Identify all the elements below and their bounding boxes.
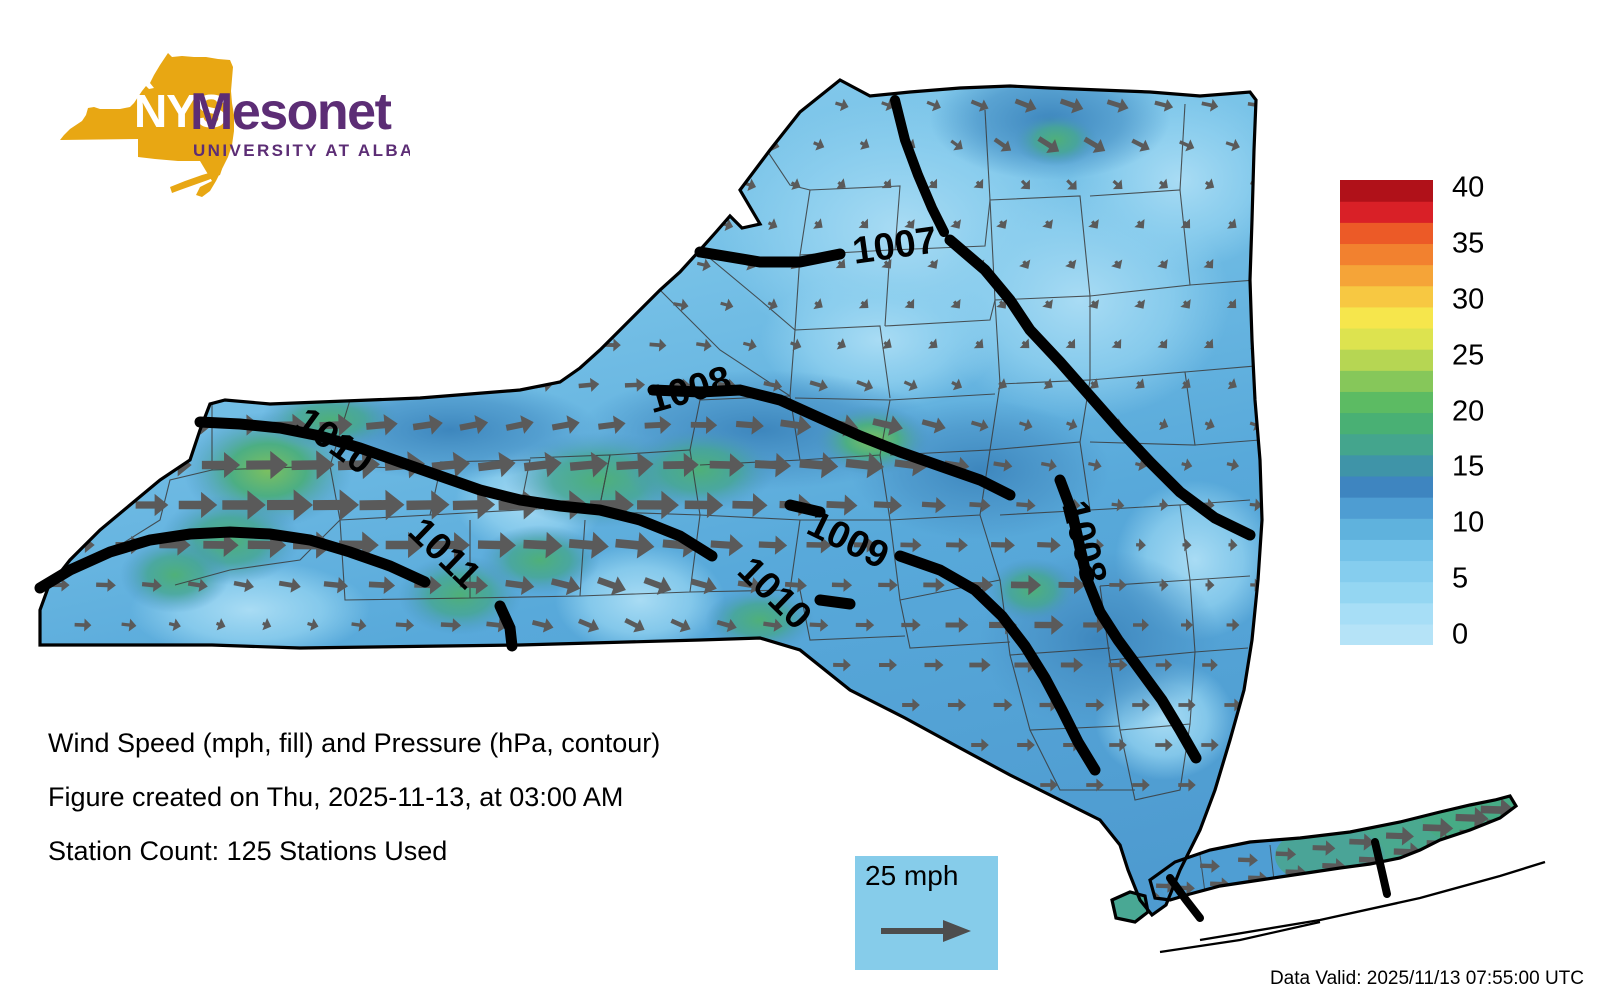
wind-arrow — [718, 698, 736, 711]
wind-arrow — [258, 698, 276, 711]
wind-arrow — [120, 219, 138, 232]
colorbar-band — [1340, 539, 1433, 561]
wind-arrow — [209, 377, 232, 393]
wind-arrow — [51, 259, 69, 272]
wind-arrow — [120, 698, 138, 711]
wind-arrow — [144, 658, 161, 672]
colorbar-gradient — [1340, 180, 1433, 645]
wind-arrow — [255, 377, 279, 393]
wind-arrow — [350, 218, 368, 231]
logo-university-text: UNIVERSITY AT ALBANY — [193, 141, 410, 160]
wind-arrow — [419, 658, 437, 671]
colorbar-band — [1340, 603, 1433, 625]
wind-arrow — [419, 258, 437, 271]
wind-arrow — [602, 657, 623, 673]
wind-arrow — [557, 258, 575, 272]
wind-arrow — [304, 698, 322, 711]
wind-arrow — [442, 138, 460, 151]
reference-vector-arrow-icon — [881, 916, 973, 946]
wind-arrow — [626, 698, 644, 712]
wind-arrow — [258, 218, 276, 231]
colorbar-tick-25: 25 — [1452, 339, 1484, 372]
wind-arrow — [143, 338, 162, 351]
wind-arrow — [488, 698, 506, 711]
colorbar-tick-35: 35 — [1452, 227, 1484, 260]
colorbar-tick-labels: 4035302520151050 — [1452, 180, 1512, 645]
colorbar-tick-10: 10 — [1452, 507, 1484, 540]
colorbar-band — [1340, 370, 1433, 392]
wind-arrow — [534, 138, 552, 151]
reference-vector-box: 25 mph — [855, 856, 998, 970]
wind-arrow — [465, 98, 483, 111]
wind-arrow — [74, 299, 92, 312]
wind-arrow — [442, 218, 460, 231]
wind-arrow — [372, 338, 391, 351]
wind-arrow — [350, 298, 368, 311]
wind-arrow — [695, 177, 712, 193]
wind-arrow — [51, 658, 68, 671]
wind-arrow — [557, 338, 575, 351]
colorbar-tick-0: 0 — [1452, 619, 1468, 652]
wind-arrow — [810, 698, 828, 711]
colorbar-tick-20: 20 — [1452, 395, 1484, 428]
wind-arrow — [393, 376, 417, 393]
wind-arrow — [902, 778, 920, 791]
wind-arrow — [166, 298, 184, 311]
wind-arrow — [488, 218, 506, 231]
wind-arrow — [442, 298, 460, 311]
nys-mesonet-logo: NYS Mesonet UNIVERSITY AT ALBANY — [50, 45, 410, 205]
wind-arrow — [301, 377, 325, 394]
colorbar-band — [1340, 560, 1433, 582]
wind-arrow — [327, 258, 345, 271]
wind-arrow — [879, 738, 897, 751]
colorbar-band — [1340, 391, 1433, 413]
wind-arrow — [166, 218, 184, 231]
wind-arrow — [925, 738, 943, 751]
wind-arrow — [73, 378, 92, 391]
wind-arrow — [626, 138, 644, 152]
wind-arrow — [649, 178, 667, 193]
wind-arrow — [350, 698, 368, 711]
wind-arrow — [649, 98, 667, 112]
wind-arrow — [580, 138, 598, 152]
wind-arrow — [328, 658, 345, 672]
wind-arrow — [695, 98, 713, 113]
wind-arrow — [488, 298, 506, 311]
wind-arrow — [164, 378, 186, 393]
colorbar-band — [1340, 201, 1433, 223]
wind-arrow — [51, 338, 69, 351]
wind-arrow — [280, 338, 300, 351]
wind-arrow — [74, 698, 92, 711]
wind-arrow — [510, 658, 529, 672]
colorbar: 4035302520151050 — [1340, 180, 1500, 650]
wind-arrow — [119, 378, 139, 392]
wind-arrow — [694, 657, 714, 673]
colorbar-band — [1340, 307, 1433, 329]
wind-arrow — [580, 698, 598, 711]
caption-line-title: Wind Speed (mph, fill) and Pressure (hPa… — [48, 716, 868, 770]
wind-arrow — [347, 376, 371, 393]
wind-arrow — [139, 416, 165, 433]
wind-arrow — [580, 298, 598, 312]
wind-arrow — [465, 658, 484, 672]
wind-arrow — [419, 98, 437, 111]
wind-arrow — [143, 259, 161, 272]
wind-arrow — [95, 417, 118, 433]
data-valid-label: Data Valid: 2025/11/13 07:55:00 UTC — [1270, 968, 1584, 990]
wind-arrow — [212, 218, 230, 231]
wind-arrow — [649, 257, 666, 272]
wind-arrow — [672, 138, 690, 153]
colorbar-band — [1340, 582, 1433, 604]
wind-arrow — [396, 298, 414, 311]
wind-arrow — [115, 455, 143, 474]
wind-arrow — [534, 218, 552, 231]
wind-arrow — [212, 298, 230, 311]
colorbar-band — [1340, 413, 1433, 435]
wind-arrow — [419, 178, 437, 191]
wind-arrow — [235, 258, 253, 271]
wind-arrow — [511, 178, 529, 191]
wind-arrow — [236, 658, 252, 672]
wind-arrow — [741, 97, 758, 112]
wind-arrow — [740, 658, 759, 673]
caption-line-created: Figure created on Thu, 2025-11-13, at 03… — [48, 770, 868, 824]
wind-arrow — [97, 338, 115, 351]
wind-arrow — [718, 137, 735, 153]
colorbar-tick-40: 40 — [1452, 172, 1484, 205]
reference-vector-label: 25 mph — [865, 860, 958, 892]
wind-arrow — [464, 338, 483, 352]
wind-arrow — [439, 376, 463, 394]
wind-arrow — [465, 258, 483, 271]
caption-line-stations: Station Count: 125 Stations Used — [48, 824, 868, 878]
colorbar-tick-5: 5 — [1452, 563, 1468, 596]
wind-arrow — [534, 698, 552, 711]
colorbar-band — [1340, 624, 1433, 645]
wind-arrow — [994, 778, 1012, 791]
wind-arrow — [626, 218, 644, 233]
wind-arrow — [1247, 738, 1264, 751]
wind-arrow — [465, 178, 483, 191]
wind-arrow — [511, 338, 530, 352]
colorbar-tick-15: 15 — [1452, 451, 1484, 484]
wind-arrow — [97, 658, 114, 671]
wind-arrow — [282, 658, 298, 672]
wind-arrow — [511, 258, 529, 271]
wind-arrow — [189, 338, 208, 351]
wind-arrow — [281, 258, 299, 271]
wind-arrow — [373, 258, 391, 271]
wind-arrow — [304, 218, 322, 231]
wind-arrow — [764, 698, 782, 711]
wind-arrow — [534, 298, 552, 311]
colorbar-band — [1340, 518, 1433, 540]
wind-arrow — [557, 98, 575, 111]
wind-arrow — [97, 259, 115, 272]
wind-arrow — [234, 338, 253, 351]
colorbar-band — [1340, 497, 1433, 519]
wind-arrow — [48, 497, 71, 513]
colorbar-band — [1340, 180, 1433, 202]
wind-arrow — [396, 218, 414, 231]
wind-arrow — [190, 658, 206, 672]
wind-arrow — [258, 298, 276, 311]
wind-arrow — [418, 338, 437, 352]
colorbar-band — [1340, 455, 1433, 477]
wind-arrow — [50, 418, 71, 432]
wind-arrow — [373, 658, 390, 671]
colorbar-band — [1340, 222, 1433, 244]
colorbar-band — [1340, 265, 1433, 287]
wind-arrow — [92, 496, 119, 515]
wind-arrow — [396, 698, 414, 711]
wind-arrow — [557, 178, 575, 191]
wind-arrow — [580, 218, 598, 232]
wind-arrow — [71, 457, 95, 473]
wind-arrow — [442, 698, 460, 711]
wind-arrow — [120, 298, 138, 311]
wind-arrow — [603, 178, 621, 192]
colorbar-band — [1340, 434, 1433, 456]
wind-arrow — [304, 298, 322, 311]
wind-arrow — [326, 338, 346, 351]
wind-arrow — [603, 258, 621, 272]
wind-arrow — [648, 657, 669, 674]
wind-arrow — [189, 259, 207, 272]
colorbar-band — [1340, 243, 1433, 265]
colorbar-band — [1340, 286, 1433, 308]
wind-arrow — [212, 698, 230, 711]
wind-arrow — [948, 778, 966, 791]
wind-arrow — [511, 98, 529, 111]
colorbar-tick-30: 30 — [1452, 283, 1484, 316]
wind-arrow — [672, 698, 690, 712]
colorbar-band — [1340, 476, 1433, 498]
colorbar-band — [1340, 349, 1433, 371]
wind-arrow — [1224, 778, 1241, 791]
caption-block: Wind Speed (mph, fill) and Pressure (hPa… — [48, 716, 868, 878]
wind-arrow — [556, 657, 576, 673]
colorbar-band — [1340, 328, 1433, 350]
wind-arrow — [787, 658, 805, 672]
wind-arrow — [74, 219, 92, 232]
wind-arrow — [166, 698, 184, 711]
wind-arrow — [488, 138, 506, 151]
logo-mesonet-text: Mesonet — [190, 83, 392, 141]
wind-arrow — [672, 217, 689, 232]
wind-arrow — [603, 98, 621, 111]
